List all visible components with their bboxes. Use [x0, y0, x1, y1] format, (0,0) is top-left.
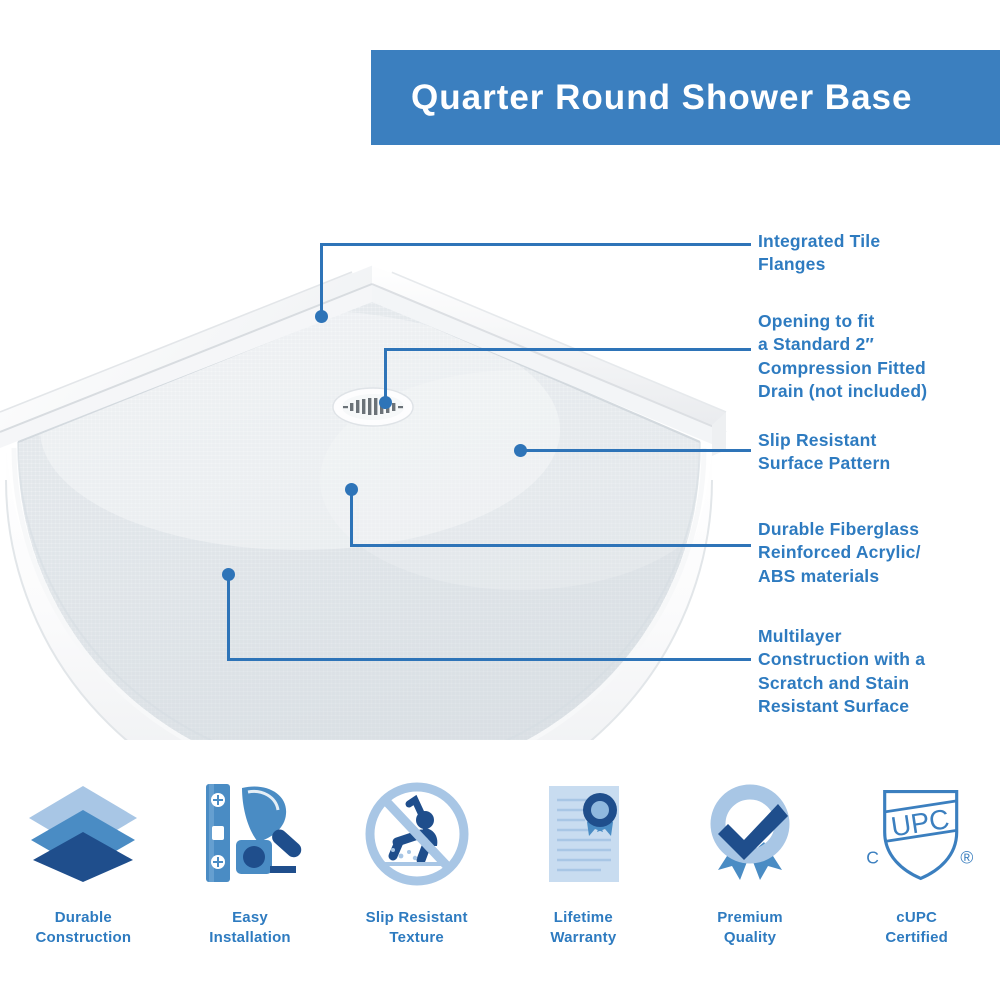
callout-line: Opening to fit: [758, 310, 927, 333]
shower-base-drawing: [0, 180, 760, 740]
checkmark-rosette-icon: [690, 775, 810, 895]
feature-premium-quality: Premium Quality: [667, 775, 834, 947]
callout-line: Scratch and Stain: [758, 672, 925, 695]
feature-label-line: cUPC: [885, 908, 948, 928]
callout-line: Slip Resistant: [758, 429, 890, 452]
callout-line: Construction with a: [758, 648, 925, 671]
feature-label: Slip Resistant Texture: [366, 908, 468, 947]
feature-label-line: Certified: [885, 928, 948, 948]
drain-grate: [333, 388, 413, 426]
callout-line: Surface Pattern: [758, 452, 890, 475]
feature-label-line: Premium: [717, 908, 783, 928]
feature-cupc-certified: UPC C ® cUPC Certified: [833, 775, 1000, 947]
feature-badges-row: Durable Construction: [0, 775, 1000, 980]
callout-integrated-tile-flanges: Integrated Tile Flanges: [758, 230, 880, 277]
callout-drain-opening: Opening to fit a Standard 2″ Compression…: [758, 310, 927, 403]
callout-line: Integrated Tile: [758, 230, 880, 253]
callout-durable-materials: Durable Fiberglass Reinforced Acrylic/ A…: [758, 518, 921, 588]
callout-slip-resistant-surface: Slip Resistant Surface Pattern: [758, 429, 890, 476]
feature-label-line: Installation: [209, 928, 291, 948]
callout-line: Reinforced Acrylic/: [758, 541, 921, 564]
feature-label: Premium Quality: [717, 908, 783, 947]
callout-multilayer-construction: Multilayer Construction with a Scratch a…: [758, 625, 925, 718]
feature-label-line: Lifetime: [550, 908, 616, 928]
feature-label: Durable Construction: [35, 908, 131, 947]
feature-label-line: Texture: [366, 928, 468, 948]
upc-c-mark: C: [866, 848, 879, 868]
infographic-page: Quarter Round Shower Base: [0, 0, 1000, 1000]
feature-label-line: Construction: [35, 928, 131, 948]
feature-label: cUPC Certified: [885, 908, 948, 947]
feature-lifetime-warranty: Lifetime Warranty: [500, 775, 667, 947]
feature-easy-installation: Easy Installation: [167, 775, 334, 947]
callout-line: ABS materials: [758, 565, 921, 588]
callout-line: Flanges: [758, 253, 880, 276]
page-title: Quarter Round Shower Base: [371, 78, 912, 118]
layers-icon: [23, 775, 143, 895]
level-trowel-icon: [190, 775, 310, 895]
feature-slip-resistant-texture: Slip Resistant Texture: [333, 775, 500, 947]
feature-label-line: Durable: [35, 908, 131, 928]
callout-line: a Standard 2″: [758, 333, 927, 356]
callout-line: Multilayer: [758, 625, 925, 648]
feature-label-line: Slip Resistant: [366, 908, 468, 928]
callout-line: Compression Fitted: [758, 357, 927, 380]
certificate-icon: [523, 775, 643, 895]
feature-label-line: Quality: [717, 928, 783, 948]
feature-label-line: Easy: [209, 908, 291, 928]
product-illustration: [0, 180, 760, 740]
upc-registered-mark: ®: [960, 848, 973, 868]
callout-line: Durable Fiberglass: [758, 518, 921, 541]
feature-label: Easy Installation: [209, 908, 291, 947]
callout-line: Resistant Surface: [758, 695, 925, 718]
feature-label-line: Warranty: [550, 928, 616, 948]
no-slip-icon: [357, 775, 477, 895]
feature-durable-construction: Durable Construction: [0, 775, 167, 947]
upc-shield-icon: UPC C ®: [857, 775, 977, 895]
feature-label: Lifetime Warranty: [550, 908, 616, 947]
header-banner: Quarter Round Shower Base: [371, 50, 1000, 145]
callout-line: Drain (not included): [758, 380, 927, 403]
